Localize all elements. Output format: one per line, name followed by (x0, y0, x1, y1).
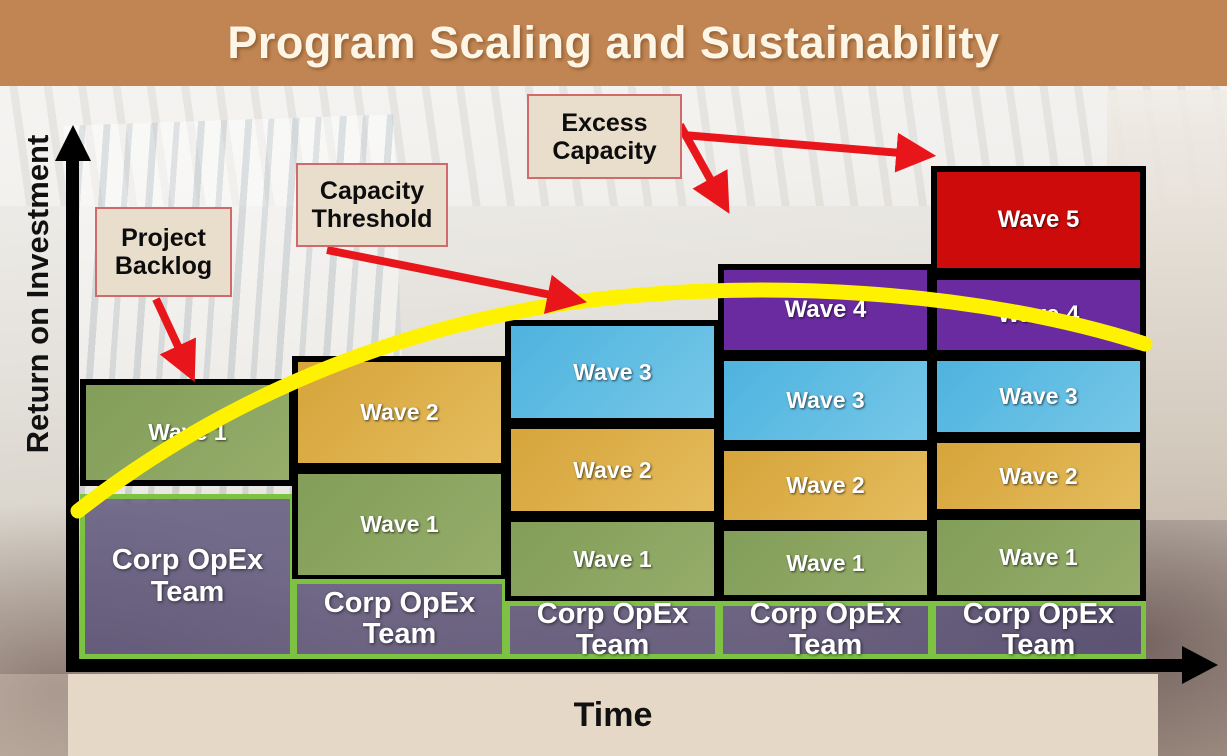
callout-line2: Capacity (552, 137, 656, 165)
block-label: Wave 1 (573, 546, 651, 573)
axis-corner-panel (0, 674, 68, 756)
block-label: Wave 1 (999, 544, 1077, 571)
block-wave-3[interactable]: Wave 3 (505, 320, 720, 424)
block-label: Wave 2 (573, 457, 651, 484)
block-wave-3[interactable]: Wave 3 (931, 355, 1146, 438)
slide-canvas: Program Scaling and Sustainability Retur… (0, 0, 1227, 756)
opex-label-line1: Corp OpEx (112, 545, 263, 576)
callout-line1: Excess (561, 109, 647, 137)
callout-line1: Capacity (320, 177, 424, 205)
block-label: Wave 3 (573, 359, 651, 386)
block-wave-4[interactable]: Wave 4 (931, 274, 1146, 356)
block-label: Wave 5 (998, 206, 1080, 234)
block-label: Wave 2 (786, 472, 864, 499)
page-title: Program Scaling and Sustainability (227, 17, 999, 69)
opex-label-line2: Team (1002, 630, 1076, 661)
block-label: Wave 1 (786, 550, 864, 577)
opex-label-line1: Corp OpEx (537, 599, 688, 630)
block-wave-2[interactable]: Wave 2 (931, 437, 1146, 515)
block-label: Wave 2 (360, 399, 438, 426)
column-period-1: Wave 1 Corp OpEx Team (80, 86, 295, 659)
callout-capacity-threshold[interactable]: Capacity Threshold (296, 163, 448, 247)
block-label: Wave 2 (999, 463, 1077, 490)
block-wave-3[interactable]: Wave 3 (718, 355, 933, 446)
block-wave-1[interactable]: Wave 1 (292, 468, 507, 581)
arrow-right-icon (1182, 646, 1218, 684)
opex-label-line2: Team (151, 577, 225, 608)
opex-label-line2: Team (789, 630, 863, 661)
opex-label-line2: Team (363, 619, 437, 650)
callout-line2: Backlog (115, 252, 212, 280)
block-label: Wave 4 (785, 296, 867, 324)
block-label: Wave 3 (786, 387, 864, 414)
block-wave-1[interactable]: Wave 1 (505, 516, 720, 602)
block-label: Wave 4 (998, 301, 1080, 329)
opex-label-line1: Corp OpEx (750, 599, 901, 630)
callout-line1: Project (121, 224, 206, 252)
block-label: Wave 1 (148, 419, 226, 446)
block-wave-2[interactable]: Wave 2 (505, 423, 720, 517)
y-axis-line (66, 155, 79, 672)
block-label: Wave 1 (360, 511, 438, 538)
block-wave-1[interactable]: Wave 1 (931, 514, 1146, 601)
block-label: Wave 3 (999, 383, 1077, 410)
callout-excess-capacity[interactable]: Excess Capacity (527, 94, 682, 179)
x-axis-label: Time (68, 674, 1158, 756)
block-wave-2[interactable]: Wave 2 (292, 356, 507, 469)
block-corp-opex-team[interactable]: Corp OpEx Team (80, 494, 295, 659)
opex-label-line1: Corp OpEx (324, 588, 475, 619)
block-corp-opex-team[interactable]: Corp OpEx Team (292, 579, 507, 659)
column-period-5: Wave 5 Wave 4 Wave 3 Wave 2 Wave 1 Corp … (931, 86, 1146, 659)
block-wave-5[interactable]: Wave 5 (931, 166, 1146, 274)
block-wave-1[interactable]: Wave 1 (718, 525, 933, 601)
opex-label-line2: Team (576, 630, 650, 661)
block-corp-opex-team[interactable]: Corp OpEx Team (505, 601, 720, 659)
callout-project-backlog[interactable]: Project Backlog (95, 207, 232, 297)
block-corp-opex-team[interactable]: Corp OpEx Team (718, 601, 933, 659)
callout-line2: Threshold (312, 205, 433, 233)
block-wave-1[interactable]: Wave 1 (80, 379, 295, 486)
column-period-4: Wave 4 Wave 3 Wave 2 Wave 1 Corp OpEx Te… (718, 86, 933, 659)
block-corp-opex-team[interactable]: Corp OpEx Team (931, 601, 1146, 659)
block-wave-2[interactable]: Wave 2 (718, 445, 933, 526)
y-axis-label: Return on Investment (8, 14, 68, 574)
opex-label-line1: Corp OpEx (963, 599, 1114, 630)
block-wave-4[interactable]: Wave 4 (718, 264, 933, 356)
title-banner: Program Scaling and Sustainability (0, 0, 1227, 86)
